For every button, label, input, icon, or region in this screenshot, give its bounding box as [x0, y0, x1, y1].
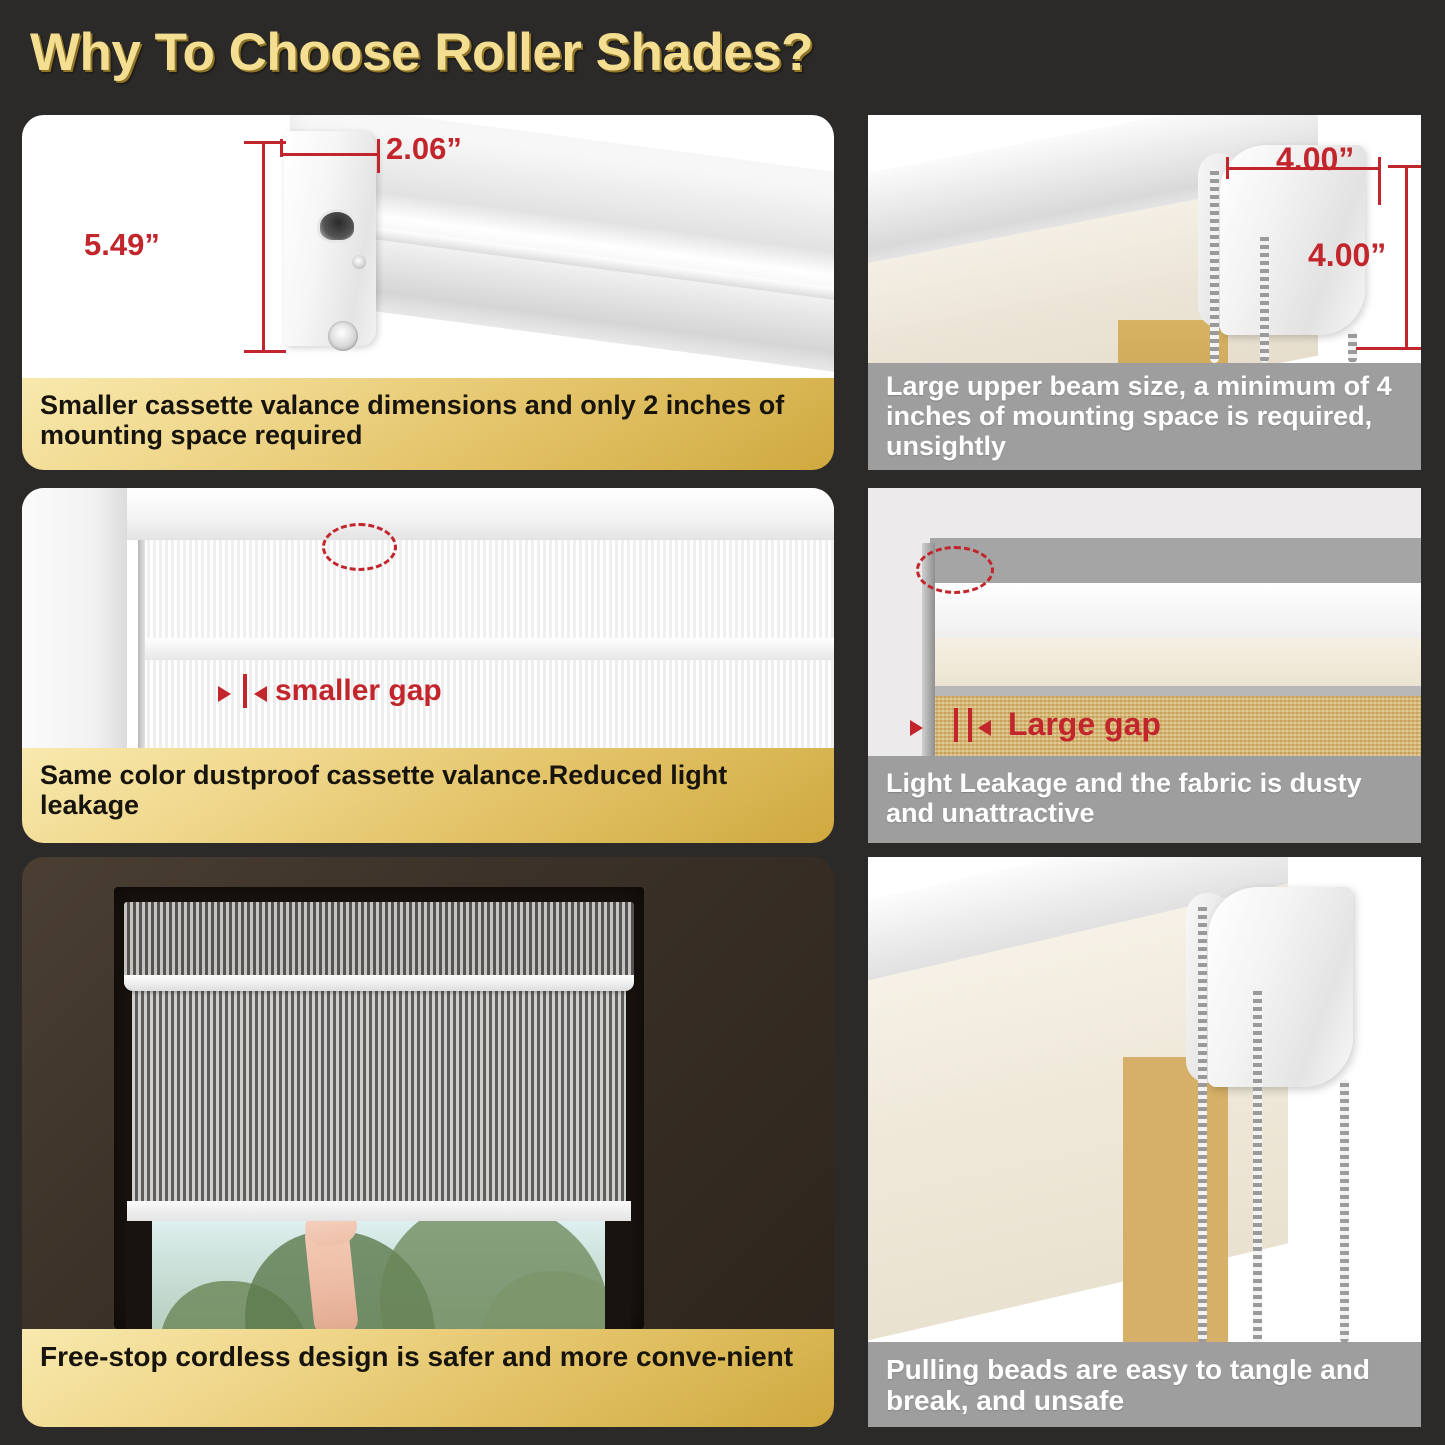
valance-screw-lower — [328, 321, 358, 351]
gap-highlight-ellipse — [916, 546, 994, 594]
dim2-width-tick-right — [1378, 157, 1381, 205]
gap-arrow-right-icon — [978, 720, 991, 736]
dim-height-tick-bottom — [244, 350, 286, 353]
panel-2-photo: 4.00” 4.00” — [868, 115, 1421, 363]
gap-arrow-left-icon — [218, 686, 231, 702]
window-frame-left — [22, 488, 127, 750]
shade-mid-rail — [144, 638, 834, 660]
shade-shadow-band — [930, 538, 1421, 583]
large-gap-label: Large gap — [1008, 706, 1161, 743]
panel-smaller-cassette: 2.06” 5.49” Smaller cassette valance dim… — [22, 115, 834, 470]
valance-screw-side — [352, 255, 366, 269]
panel-4-caption-bar: Light Leakage and the fabric is dusty an… — [868, 756, 1421, 843]
dim-width-tick-right — [377, 139, 380, 173]
gap-arrow-right-icon — [254, 686, 267, 702]
panel-3-caption-bar: Same color dustproof cassette valance.Re… — [22, 748, 834, 843]
panel-smaller-gap: smaller gap Same color dustproof cassett… — [22, 488, 834, 843]
dim-width-line — [280, 153, 380, 156]
window-glass — [150, 1221, 605, 1329]
smaller-gap-label: smaller gap — [275, 674, 442, 708]
panel-cordless-design: Free-stop cordless design is safer and m… — [22, 857, 834, 1427]
bead-chain-middle — [1260, 233, 1269, 363]
dim2-width-tick-left — [1226, 157, 1229, 179]
bead-chain-rear — [1340, 1079, 1349, 1342]
shade-gray-rail — [930, 686, 1421, 696]
panel-4-photo: Large gap — [868, 488, 1421, 756]
bead-chain-front — [1210, 167, 1219, 363]
window-sash-right — [605, 1221, 631, 1329]
dim-height-label: 5.49” — [84, 227, 160, 263]
bead-chain-front — [1198, 903, 1207, 1342]
gap-highlight-ellipse — [322, 523, 397, 571]
gap-marker-line-a — [954, 708, 958, 742]
shade-left-edge — [138, 540, 145, 750]
mounting-bracket — [1208, 887, 1353, 1087]
panel-4-caption-text: Light Leakage and the fabric is dusty an… — [886, 768, 1405, 828]
shade-bottom-bar — [127, 1201, 631, 1221]
panel-1-caption-text: Smaller cassette valance dimensions and … — [40, 390, 818, 450]
dim2-height-tick-bottom — [1356, 347, 1421, 350]
cassette-valance-lip — [124, 975, 634, 991]
bead-chain-middle — [1253, 987, 1262, 1342]
panel-3-photo: smaller gap — [22, 488, 834, 750]
panel-6-caption-text: Pulling beads are easy to tangle and bre… — [886, 1354, 1405, 1417]
shade-white-beam — [930, 583, 1421, 638]
valance-slot — [317, 209, 357, 243]
panel-3-caption-text: Same color dustproof cassette valance.Re… — [40, 760, 818, 820]
dim2-width-label: 4.00” — [1276, 141, 1354, 178]
gap-arrow-left-icon — [910, 720, 923, 736]
panel-2-caption-bar: Large upper beam size, a minimum of 4 in… — [868, 363, 1421, 470]
dim2-height-tick-top — [1388, 165, 1421, 168]
panel-6-photo — [868, 857, 1421, 1342]
panel-2-caption-text: Large upper beam size, a minimum of 4 in… — [886, 371, 1405, 462]
shade-cream-band — [930, 638, 1421, 686]
panel-large-beam: 4.00” 4.00” Large upper beam size, a min… — [868, 115, 1421, 470]
window-frame-top — [127, 488, 834, 540]
dim2-height-line — [1405, 165, 1408, 350]
panel-1-caption-bar: Smaller cassette valance dimensions and … — [22, 378, 834, 470]
dim2-height-label: 4.00” — [1308, 237, 1386, 274]
panel-large-gap: Large gap Light Leakage and the fabric i… — [868, 488, 1421, 843]
gap-marker-line-b — [968, 708, 972, 742]
panel-1-photo: 2.06” 5.49” — [22, 115, 834, 380]
roller-shade-fabric — [132, 991, 626, 1201]
dim-height-line — [262, 141, 265, 353]
panel-5-photo — [22, 857, 834, 1329]
shade-tan-fabric — [930, 696, 1421, 756]
cassette-end-cap — [284, 131, 376, 346]
panel-5-caption-text: Free-stop cordless design is safer and m… — [40, 1341, 793, 1372]
window-sash-left — [126, 1221, 152, 1329]
panel-5-caption-bar: Free-stop cordless design is safer and m… — [22, 1329, 834, 1427]
panel-pulling-beads: Pulling beads are easy to tangle and bre… — [868, 857, 1421, 1427]
dim-height-tick-top — [244, 141, 286, 144]
shade-upper-section — [144, 540, 834, 650]
comparison-grid: 2.06” 5.49” Smaller cassette valance dim… — [0, 0, 1445, 1445]
shade-fabric-tan-layer — [1123, 1057, 1228, 1342]
dim-width-label: 2.06” — [386, 131, 462, 167]
shade-lower-section — [144, 660, 834, 750]
gap-marker-line — [243, 674, 247, 708]
panel-6-caption-bar: Pulling beads are easy to tangle and bre… — [868, 1342, 1421, 1427]
